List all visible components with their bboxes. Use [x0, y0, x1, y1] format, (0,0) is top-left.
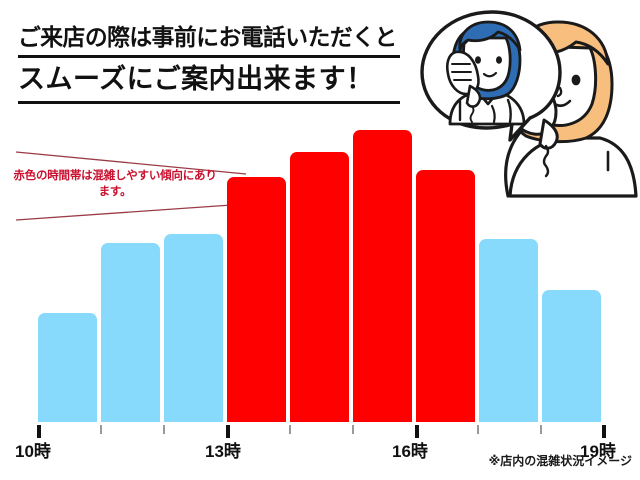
- bar-11: [101, 243, 160, 422]
- axis-label-10: 10時: [15, 437, 51, 462]
- axis-tick-15: [352, 425, 354, 434]
- bar-17: [479, 239, 538, 422]
- bar-10: [38, 313, 97, 422]
- customer-eye-right: [572, 75, 581, 86]
- bar-12: [164, 234, 223, 422]
- bar-13: [227, 177, 286, 422]
- axis-tick-14: [289, 425, 291, 434]
- staff-eye-left: [475, 56, 481, 64]
- axis-label-16: 16時: [392, 437, 428, 462]
- staff-eye-right: [496, 56, 502, 64]
- bar-14: [290, 152, 349, 422]
- axis-tick-18: [540, 425, 542, 434]
- axis-tick-12: [163, 425, 165, 434]
- two-women-on-phone-illustration: [404, 0, 640, 200]
- poster-canvas: ご来店の際は事前にお電話いただくと スムーズにご案内出来ます！ 赤色の時間帯は混…: [0, 0, 640, 480]
- axis-tick-11: [100, 425, 102, 434]
- staff-woman: [447, 22, 524, 124]
- axis-label-13: 13時: [205, 437, 241, 462]
- bar-18: [542, 290, 601, 422]
- customer-body: [510, 138, 636, 196]
- chart-caption: ※店内の混雑状況イメージ: [489, 452, 632, 469]
- bar-16: [416, 170, 475, 422]
- axis-tick-17: [477, 425, 479, 434]
